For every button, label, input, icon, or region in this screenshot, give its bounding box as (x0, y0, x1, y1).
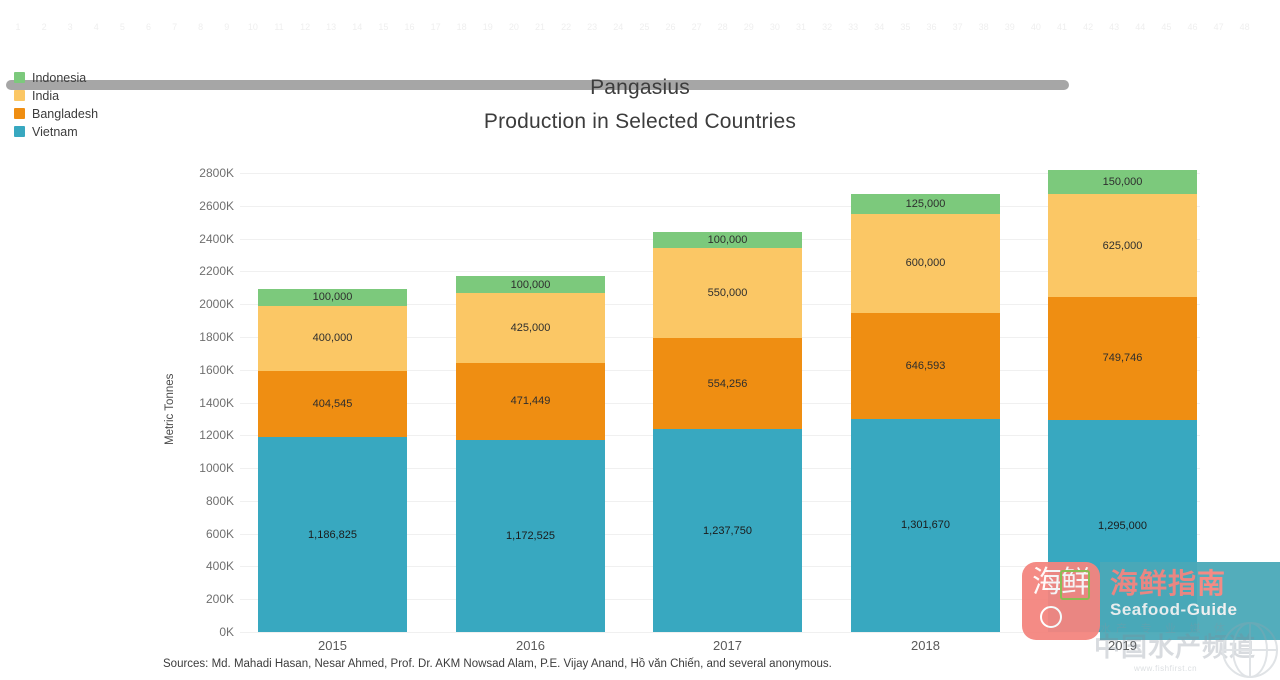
bar-segment-value-label: 100,000 (511, 279, 551, 291)
ruler-tick: 15 (378, 22, 388, 32)
ruler-tick: 21 (535, 22, 545, 32)
ruler-tick: 45 (1161, 22, 1171, 32)
ruler-tick: 11 (274, 22, 283, 32)
ruler-tick: 23 (587, 22, 597, 32)
ruler-tick: 24 (613, 22, 623, 32)
bar-segment-value-label: 1,295,000 (1098, 520, 1147, 532)
y-axis-tick-label: 1200K (184, 428, 234, 442)
ruler-tick: 4 (94, 22, 99, 32)
y-axis-tick-label: 2400K (184, 232, 234, 246)
bar-segment-india-2015[interactable]: 400,000 (258, 306, 407, 372)
bar-segment-vietnam-2016[interactable]: 1,172,525 (456, 440, 605, 632)
y-axis-tick-label: 600K (184, 527, 234, 541)
logo-mark-icon: 海鲜 (1022, 562, 1100, 640)
bar-segment-value-label: 1,301,670 (901, 519, 950, 531)
y-axis-tick-label: 1800K (184, 330, 234, 344)
ruler-tick: 48 (1240, 22, 1250, 32)
y-axis-tick-label: 2000K (184, 297, 234, 311)
bar-segment-value-label: 400,000 (313, 332, 353, 344)
ruler-tick: 30 (770, 22, 780, 32)
horizontal-scrollbar-track[interactable] (0, 40, 1280, 51)
bar-segment-value-label: 425,000 (511, 322, 551, 334)
y-axis-tick-label: 2800K (184, 166, 234, 180)
y-axis-tick-label: 1000K (184, 461, 234, 475)
bar-segment-value-label: 554,256 (708, 378, 748, 390)
bar-segment-indonesia-2015[interactable]: 100,000 (258, 289, 407, 305)
sources-note: Sources: Md. Mahadi Hasan, Nesar Ahmed, … (163, 658, 832, 670)
fish-icon (1060, 570, 1090, 600)
bar-segment-bangladesh-2019[interactable]: 749,746 (1048, 297, 1197, 420)
ruler-tick: 3 (68, 22, 73, 32)
x-axis-tick-label-2017: 2017 (653, 638, 802, 653)
ruler-tick: 43 (1109, 22, 1119, 32)
bar-segment-value-label: 1,237,750 (703, 525, 752, 537)
bar-segment-value-label: 471,449 (511, 395, 551, 407)
bar-segment-value-label: 125,000 (906, 198, 946, 210)
ruler-tick: 38 (979, 22, 989, 32)
ruler-tick: 33 (848, 22, 858, 32)
bar-segment-india-2018[interactable]: 600,000 (851, 214, 1000, 312)
ruler-tick: 6 (146, 22, 151, 32)
ruler-tick: 36 (926, 22, 936, 32)
bar-segment-value-label: 1,172,525 (506, 530, 555, 542)
bar-segment-value-label: 646,593 (906, 360, 946, 372)
ruler-tick: 2 (42, 22, 47, 32)
logo-chinese-name: 海鲜指南 (1110, 568, 1272, 600)
ruler-tick: 35 (900, 22, 910, 32)
x-axis-tick-label-2016: 2016 (456, 638, 605, 653)
bar-segment-value-label: 550,000 (708, 287, 748, 299)
ruler-tick: 46 (1187, 22, 1197, 32)
y-axis-tick-label: 2600K (184, 199, 234, 213)
ruler-tick: 12 (300, 22, 310, 32)
bar-2016[interactable]: 100,000425,000471,4491,172,525 (456, 276, 605, 632)
bar-2018[interactable]: 125,000600,000646,5931,301,670 (851, 194, 1000, 632)
bar-segment-vietnam-2015[interactable]: 1,186,825 (258, 437, 407, 632)
ruler-tick: 34 (874, 22, 884, 32)
watermark-url: www.fishfirst.cn (1134, 664, 1197, 673)
x-axis-tick-label-2018: 2018 (851, 638, 1000, 653)
bar-segment-value-label: 600,000 (906, 257, 946, 269)
ruler-tick: 28 (718, 22, 728, 32)
ruler-tick: 8 (198, 22, 203, 32)
ruler-tick: 41 (1057, 22, 1067, 32)
ruler-tick: 1 (15, 22, 20, 32)
bar-segment-indonesia-2016[interactable]: 100,000 (456, 276, 605, 292)
ruler-tick: 44 (1135, 22, 1145, 32)
bar-2017[interactable]: 100,000550,000554,2561,237,750 (653, 232, 802, 632)
bar-segment-indonesia-2019[interactable]: 150,000 (1048, 170, 1197, 195)
ruler-tick: 25 (639, 22, 649, 32)
y-axis-tick-label: 400K (184, 559, 234, 573)
bar-segment-india-2019[interactable]: 625,000 (1048, 194, 1197, 296)
ruler-tick: 42 (1083, 22, 1093, 32)
ruler-tick: 26 (665, 22, 675, 32)
ruler-tick: 7 (172, 22, 177, 32)
bar-segment-india-2017[interactable]: 550,000 (653, 248, 802, 338)
y-axis-tick-label: 2200K (184, 264, 234, 278)
y-axis-tick-label: 0K (184, 625, 234, 639)
bar-2015[interactable]: 100,000400,000404,5451,186,825 (258, 289, 407, 632)
bar-segment-value-label: 404,545 (313, 398, 353, 410)
ruler-tick: 37 (953, 22, 963, 32)
y-axis-tick-label: 200K (184, 592, 234, 606)
ruler-tick: 27 (692, 22, 702, 32)
ruler-tick: 31 (796, 22, 806, 32)
x-axis-tick-label-2019: 2019 (1048, 638, 1197, 653)
bar-segment-value-label: 625,000 (1103, 240, 1143, 252)
ruler-tick: 39 (1005, 22, 1015, 32)
bar-segment-indonesia-2018[interactable]: 125,000 (851, 194, 1000, 214)
logo-text-block: 海鲜指南 Seafood-Guide (1100, 562, 1280, 640)
bar-segment-india-2016[interactable]: 425,000 (456, 293, 605, 363)
ruler-tick: 22 (561, 22, 571, 32)
y-axis-tick-label: 1400K (184, 396, 234, 410)
logo-ring-icon (1040, 606, 1062, 628)
y-axis-tick-label: 800K (184, 494, 234, 508)
ruler-tick: 18 (457, 22, 467, 32)
ruler-tick: 40 (1031, 22, 1041, 32)
bar-segment-value-label: 100,000 (708, 234, 748, 246)
ruler-tick: 16 (404, 22, 414, 32)
ruler-tick: 5 (120, 22, 125, 32)
ruler-tick: 10 (248, 22, 258, 32)
ruler-strip: 1234567891011121314151617181920212223242… (0, 0, 1280, 52)
bar-segment-value-label: 1,186,825 (308, 529, 357, 541)
x-axis-tick-label-2015: 2015 (258, 638, 407, 653)
chart-title: Pangasius (0, 76, 1280, 100)
y-axis-tick-label: 1600K (184, 363, 234, 377)
ruler-tick: 32 (822, 22, 832, 32)
chart-subtitle: Production in Selected Countries (0, 110, 1280, 134)
ruler-tick: 14 (352, 22, 362, 32)
bar-segment-bangladesh-2017[interactable]: 554,256 (653, 338, 802, 429)
bar-segment-vietnam-2018[interactable]: 1,301,670 (851, 419, 1000, 632)
bar-segment-value-label: 100,000 (313, 291, 353, 303)
ruler-tick: 9 (224, 22, 229, 32)
ruler-tick: 29 (744, 22, 754, 32)
chart-page: 1234567891011121314151617181920212223242… (0, 0, 1280, 680)
logo-english-name: Seafood-Guide (1110, 600, 1272, 620)
bar-segment-indonesia-2017[interactable]: 100,000 (653, 232, 802, 248)
ruler-tick: 20 (509, 22, 519, 32)
ruler: 1234567891011121314151617181920212223242… (0, 22, 1280, 38)
ruler-tick: 19 (483, 22, 493, 32)
ruler-tick: 47 (1214, 22, 1224, 32)
y-axis-title: Metric Tonnes (164, 374, 176, 445)
bar-segment-bangladesh-2016[interactable]: 471,449 (456, 363, 605, 440)
bar-segment-value-label: 150,000 (1103, 176, 1143, 188)
bar-segment-value-label: 749,746 (1103, 352, 1143, 364)
bar-segment-bangladesh-2018[interactable]: 646,593 (851, 313, 1000, 419)
ruler-tick: 17 (431, 22, 441, 32)
bar-segment-bangladesh-2015[interactable]: 404,545 (258, 371, 407, 437)
seafood-guide-logo: 海鲜 海鲜指南 Seafood-Guide (1022, 562, 1280, 640)
bar-segment-vietnam-2017[interactable]: 1,237,750 (653, 429, 802, 632)
ruler-tick: 13 (326, 22, 336, 32)
